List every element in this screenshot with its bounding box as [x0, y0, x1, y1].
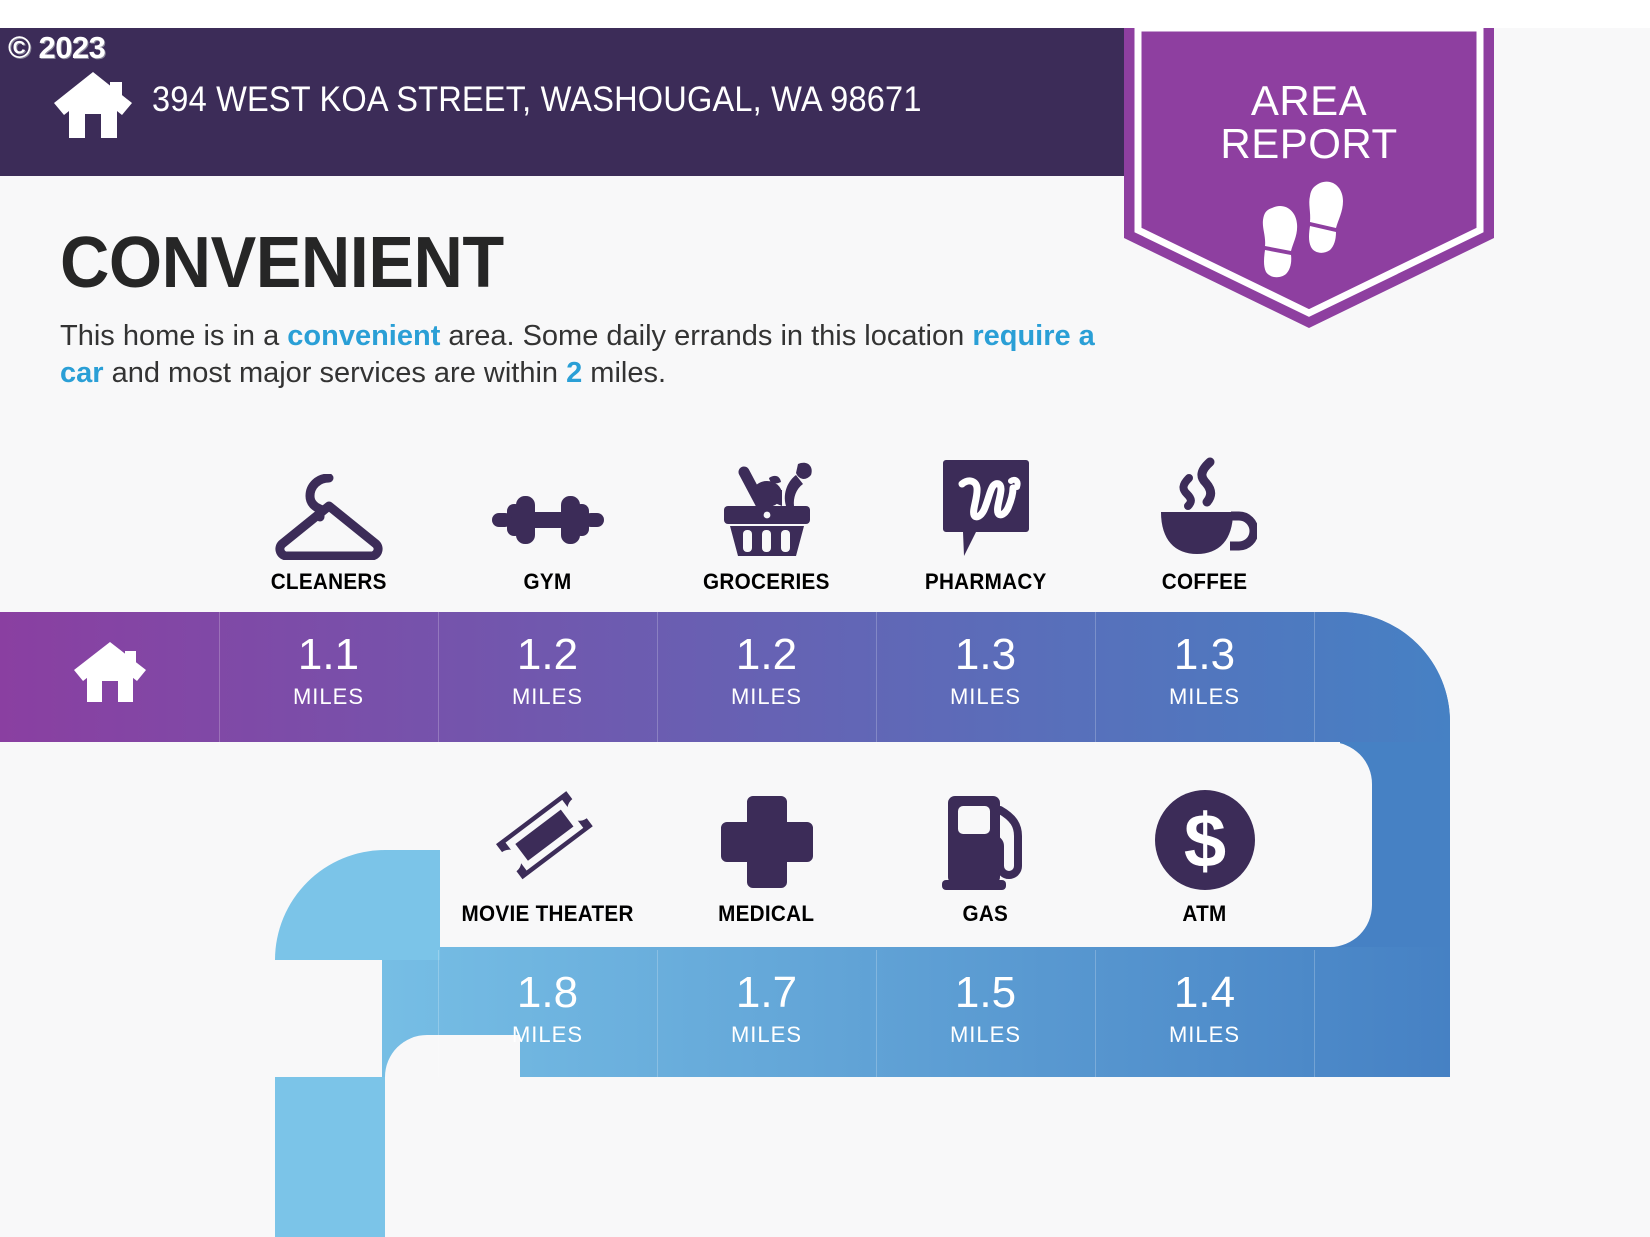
- category-label: PHARMACY: [925, 569, 1047, 595]
- distance-unit: MILES: [1169, 684, 1240, 710]
- distance-unit: MILES: [1169, 1022, 1240, 1048]
- category-medical[interactable]: MEDICAL: [657, 782, 876, 927]
- category-label: ATM: [1182, 901, 1226, 927]
- distance-medical: 1.7 MILES: [657, 950, 876, 1068]
- distance-unit: MILES: [512, 684, 583, 710]
- distance-value: 1.3: [1174, 633, 1235, 677]
- category-cleaners[interactable]: CLEANERS: [219, 450, 438, 595]
- category-label: GYM: [524, 569, 572, 595]
- distance-value: 1.4: [1174, 971, 1235, 1015]
- row1-icons: CLEANERS GYM: [219, 450, 1314, 595]
- distance-unit: MILES: [293, 684, 364, 710]
- distance-value: 1.7: [736, 971, 797, 1015]
- distance-value: 1.2: [517, 633, 578, 677]
- distance-atm: 1.4 MILES: [1095, 950, 1314, 1068]
- divider: [1095, 612, 1096, 742]
- medical-cross-icon: [717, 782, 817, 892]
- distance-ribbon: CLEANERS GYM: [0, 560, 1650, 1237]
- distance-groceries: 1.2 MILES: [657, 612, 876, 730]
- copyright-label: © 2023: [8, 30, 105, 66]
- desc-highlight-3: 2: [566, 357, 582, 389]
- divider: [1314, 612, 1315, 742]
- grocery-basket-icon: [714, 450, 820, 560]
- category-label: COFFEE: [1162, 569, 1248, 595]
- category-label: CLEANERS: [270, 569, 386, 595]
- category-coffee[interactable]: COFFEE: [1095, 450, 1314, 595]
- distance-gas: 1.5 MILES: [876, 950, 1095, 1068]
- distance-value: 1.8: [517, 971, 578, 1015]
- page-title: CONVENIENT: [60, 222, 504, 304]
- distance-value: 1.1: [298, 633, 359, 677]
- gas-pump-icon: [934, 782, 1038, 892]
- divider: [219, 612, 220, 742]
- distance-unit: MILES: [731, 684, 802, 710]
- distance-unit: MILES: [512, 1022, 583, 1048]
- category-movie-theater[interactable]: MOVIE THEATER: [438, 782, 657, 927]
- desc-part-4: miles.: [582, 357, 666, 389]
- distance-pharmacy: 1.3 MILES: [876, 612, 1095, 730]
- distance-value: 1.5: [955, 971, 1016, 1015]
- divider: [657, 612, 658, 742]
- category-label: MOVIE THEATER: [461, 901, 633, 927]
- clothes-hanger-icon: [270, 450, 388, 560]
- distance-movie-theater: 1.8 MILES: [438, 950, 657, 1068]
- desc-part-3: and most major services are within: [104, 357, 567, 389]
- distance-unit: MILES: [731, 1022, 802, 1048]
- distance-gym: 1.2 MILES: [438, 612, 657, 730]
- distance-coffee: 1.3 MILES: [1095, 612, 1314, 730]
- category-pharmacy[interactable]: PHARMACY: [876, 450, 1095, 595]
- area-report-badge: AREA REPORT: [1124, 28, 1494, 328]
- dollar-circle-icon: $: [1153, 782, 1257, 892]
- desc-part-2: area. Some daily errands in this locatio…: [440, 320, 972, 352]
- distance-unit: MILES: [950, 684, 1021, 710]
- desc-highlight-1: convenient: [287, 320, 440, 352]
- svg-text:$: $: [1183, 799, 1225, 884]
- category-label: GAS: [963, 901, 1009, 927]
- divider: [657, 950, 658, 1077]
- home-marker: [0, 612, 219, 730]
- divider: [876, 612, 877, 742]
- property-address: 394 WEST KOA STREET, WASHOUGAL, WA 98671: [152, 80, 922, 120]
- divider: [876, 950, 877, 1077]
- category-gym[interactable]: GYM: [438, 450, 657, 595]
- divider: [438, 612, 439, 742]
- category-label: GROCERIES: [703, 569, 830, 595]
- description-text: This home is in a convenient area. Some …: [60, 318, 1100, 392]
- divider: [1095, 950, 1096, 1077]
- top-white-strip: [0, 0, 1650, 28]
- distance-value: 1.2: [736, 633, 797, 677]
- walgreens-w-icon: [942, 450, 1030, 560]
- area-report-page: © 2023 394 WEST KOA STREET, WASHOUGAL, W…: [0, 0, 1650, 1237]
- divider: [438, 950, 439, 1077]
- desc-part-1: This home is in a: [60, 320, 287, 352]
- category-gas[interactable]: GAS: [876, 782, 1095, 927]
- category-atm[interactable]: $ ATM: [1095, 782, 1314, 927]
- category-groceries[interactable]: GROCERIES: [657, 450, 876, 595]
- distance-unit: MILES: [950, 1022, 1021, 1048]
- movie-ticket-icon: [492, 782, 604, 892]
- distance-cleaners: 1.1 MILES: [219, 612, 438, 730]
- category-label: MEDICAL: [718, 901, 814, 927]
- distance-value: 1.3: [955, 633, 1016, 677]
- coffee-cup-icon: [1153, 450, 1257, 560]
- dumbbell-icon: [488, 450, 608, 560]
- row2-icons: MOVIE THEATER MEDICAL: [438, 782, 1314, 927]
- house-icon: [52, 70, 134, 138]
- divider: [1314, 950, 1315, 1077]
